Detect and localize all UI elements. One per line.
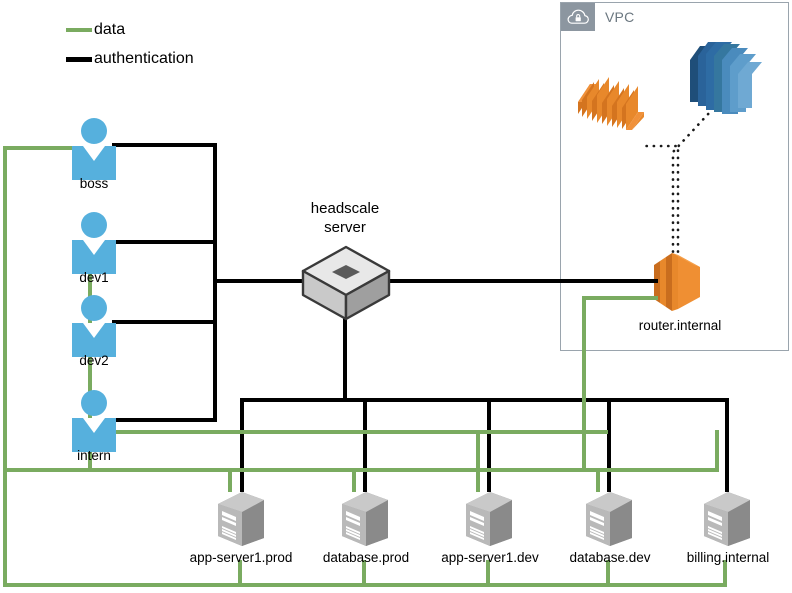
user-label-intern: intern bbox=[44, 448, 144, 463]
auth-drop-database-dev bbox=[607, 398, 611, 492]
server-tower-icon[interactable] bbox=[584, 490, 634, 551]
auth-line-intern bbox=[112, 418, 217, 422]
data-drop-database-dev bbox=[596, 468, 600, 492]
user-collar-notch bbox=[83, 240, 105, 255]
cube-3d-icon[interactable] bbox=[300, 245, 392, 328]
data-drop-database-prod bbox=[352, 468, 356, 492]
user-label-dev2: dev2 bbox=[44, 353, 144, 368]
user-icon[interactable] bbox=[72, 390, 116, 442]
user-head bbox=[81, 212, 107, 238]
server-tower-icon[interactable] bbox=[216, 490, 266, 551]
auth-line-boss bbox=[112, 143, 217, 147]
auth-drop-database-prod bbox=[363, 398, 367, 492]
aws-router-icon bbox=[650, 251, 706, 318]
line-swatch-icon bbox=[66, 57, 92, 62]
network-diagram-canvas: data authentication VPC bbox=[0, 0, 792, 593]
headscale-label-line1: headscale bbox=[275, 200, 415, 217]
data-rail-outer-vertical bbox=[3, 146, 7, 585]
user-collar-notch bbox=[83, 146, 105, 161]
server-label-database-dev: database.dev bbox=[544, 550, 676, 565]
server-label-database-prod: database.prod bbox=[298, 550, 434, 565]
user-collar-notch bbox=[83, 323, 105, 338]
legend-item-authentication: authentication bbox=[66, 51, 194, 67]
legend-label-authentication: authentication bbox=[94, 51, 194, 67]
legend-label-data: data bbox=[94, 22, 125, 38]
auth-line-dev2 bbox=[112, 320, 217, 324]
user-head bbox=[81, 390, 107, 416]
server-label-app-server1-dev: app-server1.dev bbox=[420, 550, 560, 565]
data-line-intern bbox=[112, 430, 608, 434]
data-line-boss bbox=[3, 146, 76, 150]
auth-drop-app-server1-prod bbox=[240, 398, 244, 492]
data-drop-app-server1-prod bbox=[228, 468, 232, 492]
auth-line-headscale-to-router bbox=[382, 279, 658, 283]
router-label: router.internal bbox=[600, 318, 760, 333]
auth-line-headscale-down bbox=[343, 316, 347, 402]
headscale-label-line2: server bbox=[275, 219, 415, 236]
user-label-dev1: dev1 bbox=[44, 270, 144, 285]
server-label-app-server1-prod: app-server1.prod bbox=[171, 550, 311, 565]
server-tower-icon[interactable] bbox=[340, 490, 390, 551]
legend-item-data: data bbox=[66, 22, 125, 38]
user-collar-notch bbox=[83, 418, 105, 433]
data-bus-servers-mid bbox=[3, 468, 719, 472]
data-rail-database-dev-branch bbox=[715, 430, 719, 470]
user-icon[interactable] bbox=[72, 118, 116, 170]
server-label-billing-internal: billing.internal bbox=[662, 550, 792, 565]
auth-line-users-to-headscale bbox=[213, 279, 308, 283]
line-swatch-icon bbox=[66, 28, 92, 32]
user-icon[interactable] bbox=[72, 212, 116, 264]
data-drop-app-server1-dev bbox=[476, 430, 480, 492]
auth-drop-app-server1-dev bbox=[487, 398, 491, 492]
auth-line-dev1 bbox=[112, 240, 217, 244]
user-label-boss: boss bbox=[44, 176, 144, 191]
server-tower-icon[interactable] bbox=[464, 490, 514, 551]
user-head bbox=[81, 118, 107, 144]
auth-drop-billing-internal bbox=[725, 398, 729, 492]
data-line-router-horizontal bbox=[582, 296, 658, 300]
user-head bbox=[81, 295, 107, 321]
server-tower-icon[interactable] bbox=[702, 490, 752, 551]
aws-instances-orange-icon bbox=[576, 70, 646, 137]
user-icon[interactable] bbox=[72, 295, 116, 347]
aws-instances-blue-icon bbox=[686, 40, 766, 137]
auth-bus-servers-horizontal bbox=[240, 398, 729, 402]
data-rail-router-vertical bbox=[582, 296, 586, 470]
